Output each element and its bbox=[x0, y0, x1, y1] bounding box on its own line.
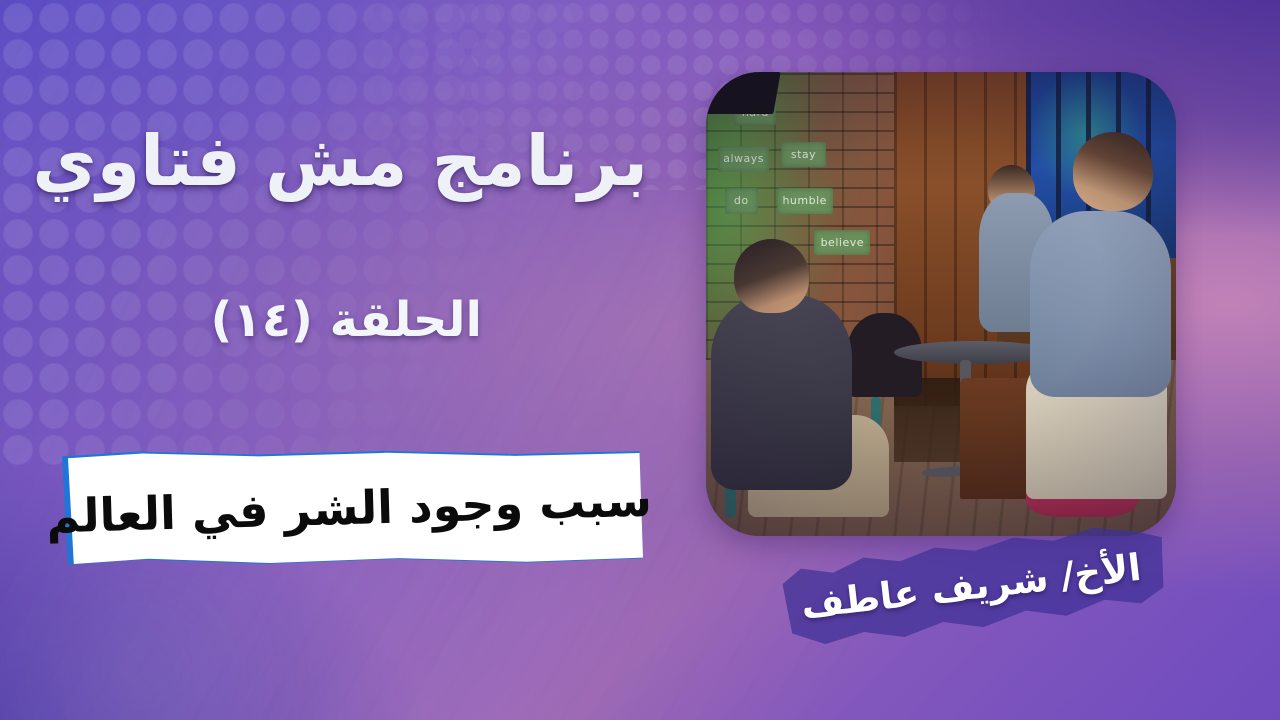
episode-photo: hard always stay do humble believe bbox=[706, 72, 1176, 536]
photo-vignette bbox=[706, 72, 1176, 536]
page-title: برنامج مش فتاوي bbox=[48, 124, 648, 200]
photo-scene: hard always stay do humble believe bbox=[706, 72, 1176, 536]
title-card: برنامج مش فتاوي الحلقة (١٤) سبب وجود الش… bbox=[0, 0, 1280, 720]
topic-banner-text: سبب وجود الشر في العالم bbox=[53, 440, 644, 576]
topic-banner: سبب وجود الشر في العالم bbox=[55, 448, 643, 568]
episode-number-label: الحلقة (١٤) bbox=[62, 292, 482, 348]
